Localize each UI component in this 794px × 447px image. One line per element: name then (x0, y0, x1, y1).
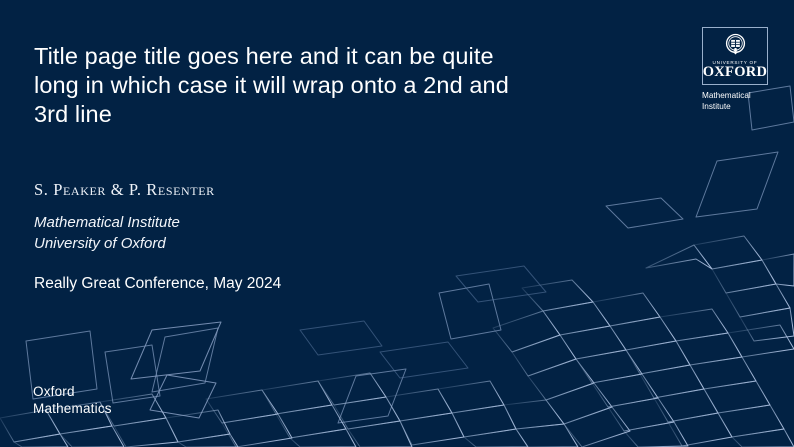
page-title: Title page title goes here and it can be… (34, 42, 534, 129)
title-line-2: long in which case it will wrap onto a 2… (34, 71, 534, 100)
institute-line-1: Mathematical Institute (34, 212, 180, 233)
logo-oxford-label: OXFORD (703, 65, 768, 80)
logo-department: Mathematical Institute (702, 90, 772, 112)
oxford-mathematics-wordmark: Oxford Mathematics (33, 383, 112, 417)
conference-date: Really Great Conference, May 2024 (34, 275, 281, 293)
oxford-logo: UNIVERSITY OF OXFORD Mathematical Instit… (702, 27, 772, 112)
wordmark-line-2: Mathematics (33, 400, 112, 417)
oxford-crest-icon (722, 31, 749, 58)
wordmark-line-1: Oxford (33, 383, 112, 400)
author-names: S. Peaker & P. Resenter (34, 180, 215, 200)
institute-line-2: University of Oxford (34, 233, 180, 254)
oxford-logo-box: UNIVERSITY OF OXFORD (702, 27, 768, 85)
title-line-1: Title page title goes here and it can be… (34, 42, 534, 71)
title-slide: Title page title goes here and it can be… (0, 0, 794, 447)
logo-department-line-2: Institute (702, 101, 772, 112)
title-line-3: 3rd line (34, 100, 534, 129)
logo-department-line-1: Mathematical (702, 90, 772, 101)
institute-block: Mathematical Institute University of Oxf… (34, 212, 180, 254)
